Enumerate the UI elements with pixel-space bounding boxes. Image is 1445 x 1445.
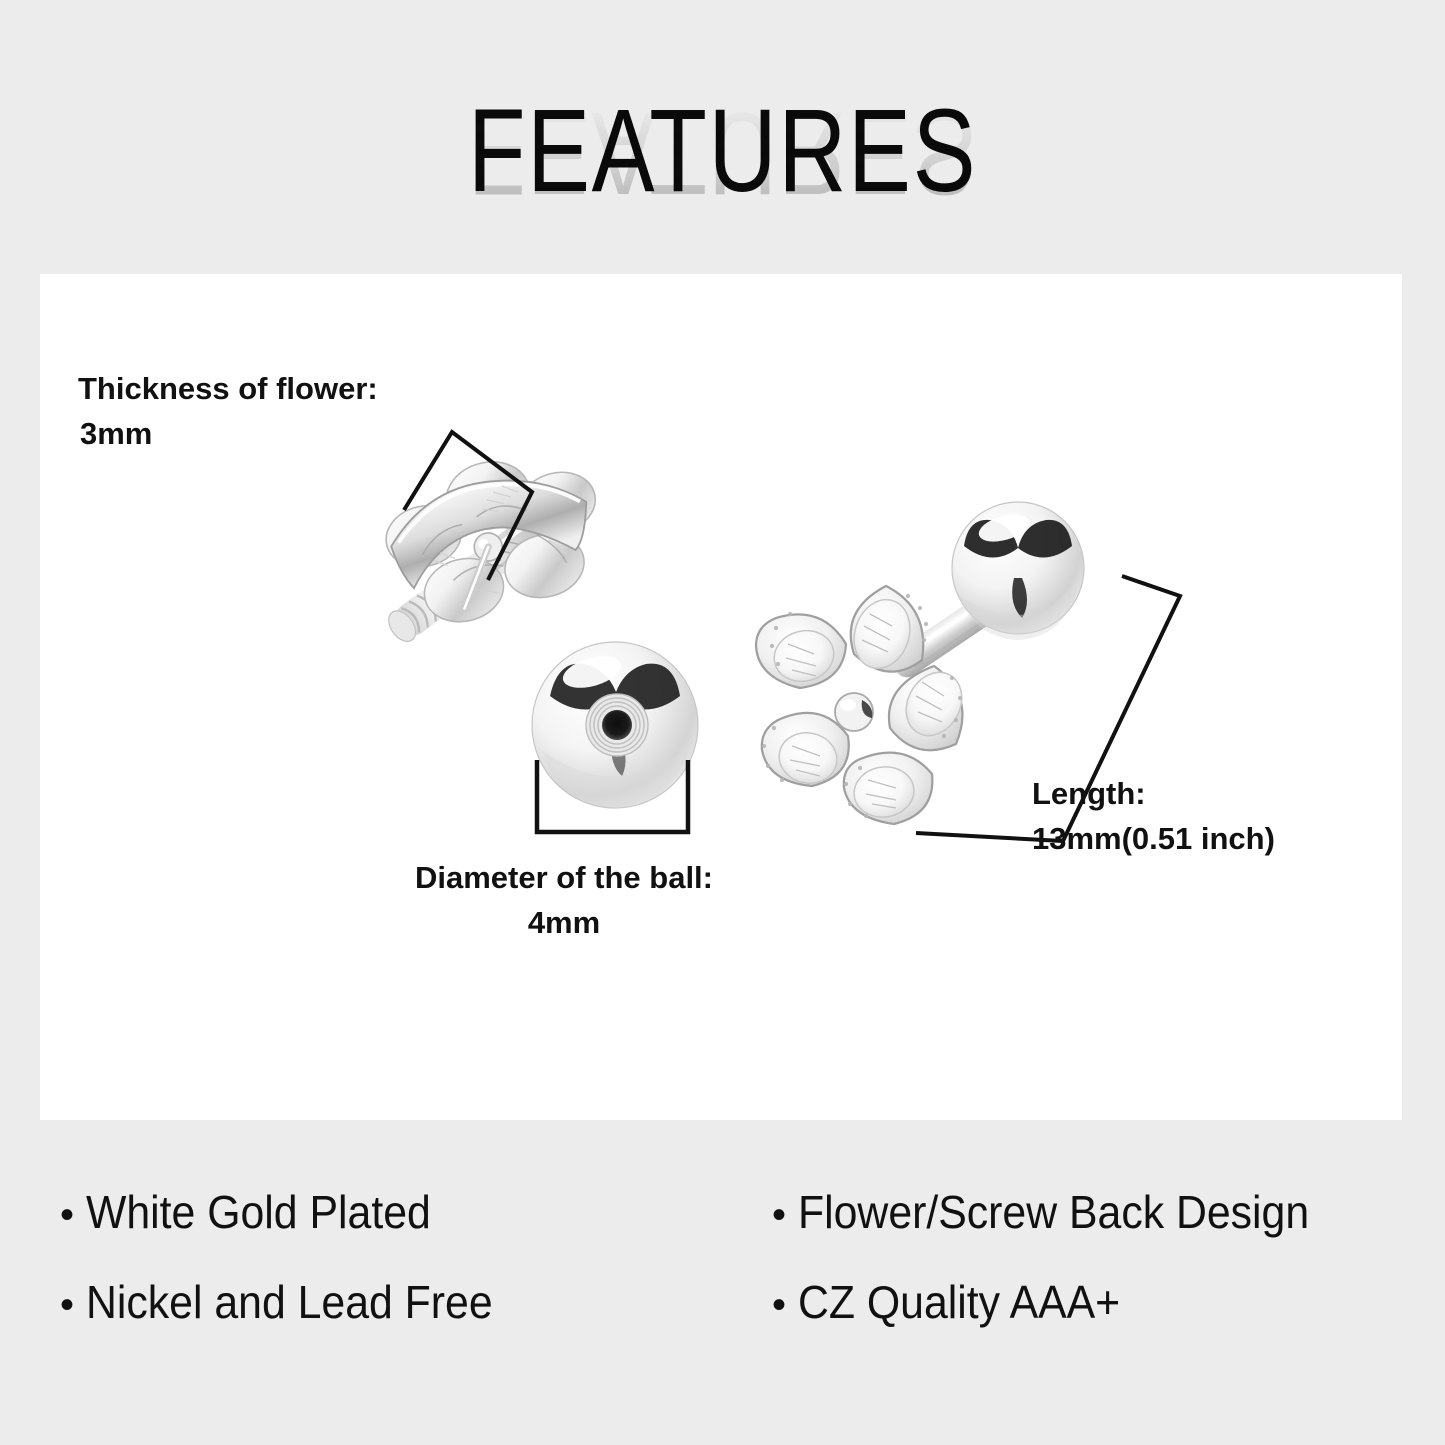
bullet-dot-icon: • [60,1189,86,1241]
feature-list-left: • White Gold Plated • Nickel and Lead Fr… [60,1186,720,1366]
feature-label: Nickel and Lead Free [86,1276,493,1328]
list-item: • Nickel and Lead Free [60,1276,720,1366]
bullet-dot-icon: • [772,1189,798,1241]
infographic-page: FEATURES FEATURES [0,0,1445,1445]
page-title-reflection: FEATURES [145,94,1301,212]
list-item: • Flower/Screw Back Design [772,1186,1432,1276]
bullet-dot-icon: • [772,1279,798,1331]
callout-diameter-value: 4mm [415,900,713,945]
callout-length-value: 13mm(0.51 inch) [1032,816,1275,861]
callout-thickness-value: 3mm [78,411,378,456]
callout-total-length: Length: 13mm(0.51 inch) [1032,771,1275,861]
feature-label: CZ Quality AAA+ [798,1276,1120,1328]
callout-diameter-line1: Diameter of the ball: [415,860,713,895]
feature-list-right: • Flower/Screw Back Design • CZ Quality … [772,1186,1432,1366]
feature-label: Flower/Screw Back Design [798,1186,1309,1238]
bullet-dot-icon: • [60,1279,86,1331]
list-item: • White Gold Plated [60,1186,720,1276]
callout-length-line1: Length: [1032,776,1146,811]
list-item: • CZ Quality AAA+ [772,1276,1432,1366]
callout-thickness-line1: Thickness of flower: [78,371,378,406]
callout-thickness-of-flower: Thickness of flower: 3mm [78,366,378,456]
feature-label: White Gold Plated [86,1186,431,1238]
callout-diameter-of-the-ball: Diameter of the ball: 4mm [415,855,713,945]
page-title-block: FEATURES FEATURES [0,92,1445,267]
screw-back-ball-nut [520,630,710,820]
